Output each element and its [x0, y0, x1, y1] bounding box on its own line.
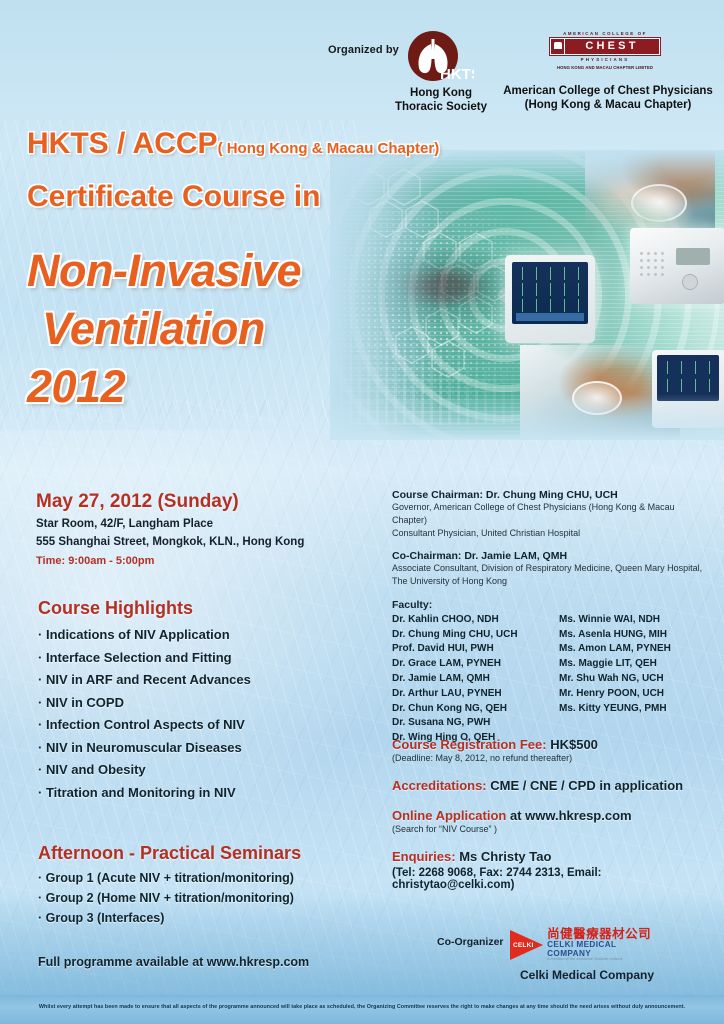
ventilator-knob	[682, 274, 698, 290]
celki-mark-text: CELKI	[513, 942, 534, 949]
afternoon-seminars-list: Group 1 (Acute NIV + titration/monitorin…	[38, 871, 378, 925]
list-item: NIV and Obesity	[38, 762, 368, 777]
celki-english-name: CELKI MEDICAL COMPANY	[547, 941, 660, 958]
faculty-panel: Course Chairman: Dr. Chung Ming CHU, UCH…	[392, 489, 710, 746]
poster: Organized by HKTS Hong Kong Thoracic Soc…	[0, 0, 724, 1024]
disclaimer-text: Whilst every attempt has been made to en…	[0, 1004, 724, 1010]
waveform-trace	[661, 361, 713, 374]
hero-medical-collage	[330, 150, 724, 440]
faculty-column-right: Ms. Winnie WAI, NDH Ms. Asenla HUNG, MIH…	[549, 613, 710, 746]
registration-fee-label: Course Registration Fee:	[392, 737, 547, 752]
title-certificate-course: Certificate Course in	[27, 180, 320, 214]
waveform-trace	[661, 379, 713, 392]
accp-logo-word: CHEST	[565, 39, 659, 54]
title-hkts-accp: HKTS / ACCP	[27, 127, 218, 160]
course-highlights-section: Course Highlights Indications of NIV App…	[38, 598, 368, 807]
enquiries-line: Enquiries: Ms Christy Tao	[392, 849, 717, 864]
organizer-header: Organized by HKTS Hong Kong Thoracic Soc…	[0, 0, 724, 118]
accp-logo-top-text: AMERICAN COLLEGE OF	[549, 31, 661, 36]
online-application-block: Online Application at www.hkresp.com (Se…	[392, 808, 717, 834]
afternoon-seminars-section: Afternoon - Practical Seminars Group 1 (…	[38, 843, 378, 931]
list-item: NIV in ARF and Recent Advances	[38, 672, 368, 687]
waveform-trace	[516, 267, 584, 280]
event-date: May 27, 2012 (Sunday)	[36, 491, 239, 513]
accp-logo-icon: AMERICAN COLLEGE OF CHEST PHYSICIANS HON…	[549, 31, 661, 71]
list-item: Interface Selection and Fitting	[38, 650, 368, 665]
list-item: Dr. Kahlin CHOO, NDH	[392, 613, 543, 628]
accp-logo-chapter-text: HONG KONG AND MACAU CHAPTER LIMITED	[549, 65, 661, 70]
registration-deadline-note: (Deadline: May 8, 2012, no refund therea…	[392, 753, 717, 763]
enquiries-contact-details[interactable]: (Tel: 2268 9068, Fax: 2744 2313, Email: …	[392, 867, 717, 891]
list-item: Mr. Henry POON, UCH	[559, 687, 710, 702]
accreditations-line: Accreditations: CME / CNE / CPD in appli…	[392, 778, 717, 793]
list-item: Infection Control Aspects of NIV	[38, 717, 368, 732]
co-chairman-name: Co-Chairman: Dr. Jamie LAM, QMH	[392, 550, 710, 562]
accreditations-block: Accreditations: CME / CNE / CPD in appli…	[392, 778, 717, 793]
monitor-screen	[512, 262, 588, 324]
course-highlights-heading: Course Highlights	[38, 598, 368, 619]
list-item: NIV in Neuromuscular Diseases	[38, 740, 368, 755]
hkts-lungs-logo-icon: HKTS	[404, 30, 474, 86]
list-item: Ms. Amon LAM, PYNEH	[559, 642, 710, 657]
accp-name-line1: American College of Chest Physicians	[496, 84, 720, 98]
online-application-line[interactable]: Online Application at www.hkresp.com	[392, 808, 717, 823]
registration-fee-value: HK$500	[550, 737, 598, 752]
course-chairman-block: Course Chairman: Dr. Chung Ming CHU, UCH…	[392, 489, 710, 539]
course-highlights-list: Indications of NIV Application Interface…	[38, 627, 368, 800]
hkts-name-line2: Thoracic Society	[386, 100, 496, 114]
list-item: Titration and Monitoring in NIV	[38, 785, 368, 800]
event-venue-line1: Star Room, 42/F, Langham Place	[36, 518, 213, 530]
faculty-heading: Faculty:	[392, 599, 710, 611]
list-item: Group 3 (Interfaces)	[38, 911, 378, 925]
list-item: Ms. Asenla HUNG, MIH	[559, 628, 710, 643]
hkts-name-line1: Hong Kong	[386, 86, 496, 100]
hkts-society-name: Hong Kong Thoracic Society	[386, 86, 496, 115]
co-chairman-role1: Associate Consultant, Division of Respir…	[392, 562, 710, 575]
accp-logo-sub-text: PHYSICIANS	[549, 57, 661, 62]
title-ventilation: Ventilation	[42, 303, 265, 355]
list-item: Dr. Arthur LAU, PYNEH	[392, 687, 543, 702]
enquiries-contact-person: Ms Christy Tao	[459, 849, 551, 864]
title-chapter-note: ( Hong Kong & Macau Chapter)	[218, 140, 440, 157]
registration-fee-line: Course Registration Fee: HK$500	[392, 737, 717, 752]
list-item: Dr. Jamie LAM, QMH	[392, 672, 543, 687]
list-item: Dr. Chun Kong NG, QEH	[392, 702, 543, 717]
co-organizer-label: Co-Organizer	[437, 936, 504, 948]
list-item: Indications of NIV Application	[38, 627, 368, 642]
accreditations-label: Accreditations:	[392, 778, 487, 793]
registration-info-panel: Course Registration Fee: HK$500 (Deadlin…	[392, 737, 717, 906]
list-item: NIV in COPD	[38, 695, 368, 710]
accp-organization-name: American College of Chest Physicians (Ho…	[496, 84, 720, 113]
accp-shield-icon	[551, 39, 564, 54]
celki-triangle-mark: CELKI	[510, 930, 543, 960]
online-application-label: Online Application	[392, 808, 506, 823]
full-programme-link[interactable]: Full programme available at www.hkresp.c…	[38, 955, 309, 969]
celki-logo-text: 尚健醫療器材公司 CELKI MEDICAL COMPANY A member …	[547, 928, 660, 962]
online-application-note: (Search for “NIV Course” )	[392, 824, 717, 834]
co-organizer-name: Celki Medical Company	[520, 968, 654, 982]
accreditations-value: CME / CNE / CPD in application	[490, 778, 683, 793]
organized-by-label: Organized by	[328, 44, 399, 56]
event-time: Time: 9:00am - 5:00pm	[36, 555, 154, 567]
list-item: Dr. Grace LAM, PYNEH	[392, 657, 543, 672]
list-item: Ms. Maggie LIT, QEH	[559, 657, 710, 672]
title-year: 2012	[27, 361, 125, 413]
list-item: Dr. Susana NG, PWH	[392, 716, 543, 731]
faculty-column-left: Dr. Kahlin CHOO, NDH Dr. Chung Ming CHU,…	[392, 613, 543, 746]
afternoon-seminars-heading: Afternoon - Practical Seminars	[38, 843, 378, 864]
ventilator-vent-grille	[638, 250, 668, 280]
course-chairman-name: Course Chairman: Dr. Chung Ming CHU, UCH	[392, 489, 710, 501]
list-item: Group 1 (Acute NIV + titration/monitorin…	[38, 871, 378, 885]
list-item: Group 2 (Home NIV + titration/monitoring…	[38, 891, 378, 905]
photo-ventilator-device	[630, 228, 724, 304]
list-item: Ms. Winnie WAI, NDH	[559, 613, 710, 628]
list-item: Ms. Kitty YEUNG, PMH	[559, 702, 710, 717]
list-item: Mr. Shu Wah NG, UCH	[559, 672, 710, 687]
enquiries-label: Enquiries:	[392, 849, 456, 864]
faculty-columns: Dr. Kahlin CHOO, NDH Dr. Chung Ming CHU,…	[392, 613, 710, 746]
title-non-invasive: Non-Invasive	[27, 245, 301, 297]
celki-tagline: A member of the worldwide VitalAire netw…	[547, 958, 660, 962]
list-item: Dr. Chung Ming CHU, UCH	[392, 628, 543, 643]
title-line-1: HKTS / ACCP( Hong Kong & Macau Chapter)	[27, 127, 439, 161]
celki-logo-icon: CELKI 尚健醫療器材公司 CELKI MEDICAL COMPANY A m…	[510, 928, 660, 962]
monitor-status-bar	[516, 313, 584, 321]
hero-bottom-fade	[330, 394, 724, 440]
online-application-url[interactable]: at www.hkresp.com	[510, 808, 632, 823]
enquiries-block: Enquiries: Ms Christy Tao (Tel: 2268 906…	[392, 849, 717, 891]
co-chairman-role2: The University of Hong Kong	[392, 575, 710, 588]
accp-logo-chest-bar: CHEST	[549, 37, 661, 56]
list-item: Prof. David HUI, PWH	[392, 642, 543, 657]
registration-fee-block: Course Registration Fee: HK$500 (Deadlin…	[392, 737, 717, 763]
course-chairman-role1: Governor, American College of Chest Phys…	[392, 501, 710, 527]
photo-patient-monitor	[505, 255, 595, 343]
waveform-trace	[516, 283, 584, 296]
event-venue-line2: 555 Shanghai Street, Mongkok, KLN., Hong…	[36, 536, 304, 548]
accp-name-line2: (Hong Kong & Macau Chapter)	[496, 98, 720, 112]
ventilator-display	[676, 248, 710, 265]
waveform-trace	[516, 299, 584, 312]
svg-text:HKTS: HKTS	[440, 66, 474, 83]
co-chairman-block: Co-Chairman: Dr. Jamie LAM, QMH Associat…	[392, 550, 710, 588]
course-chairman-role2: Consultant Physician, United Christian H…	[392, 527, 710, 540]
